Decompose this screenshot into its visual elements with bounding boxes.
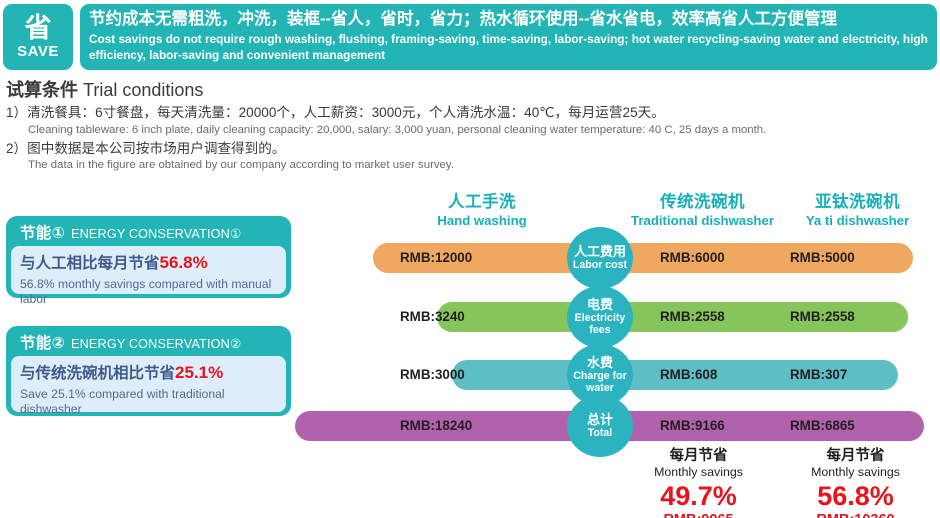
cost-value: RMB:608 xyxy=(660,360,717,390)
category-hub-label-en: Total xyxy=(588,428,613,439)
monthly-savings-label-en: Monthly savings xyxy=(778,465,933,480)
category-hub-label-cn: 人工费用 xyxy=(574,245,626,259)
monthly-savings-percent: 56.8% xyxy=(778,481,933,512)
monthly-savings-label-cn: 每月节省 xyxy=(621,448,776,465)
cost-value: RMB:5000 xyxy=(790,243,855,273)
monthly-savings-amount: RMB:10360 xyxy=(778,512,933,518)
monthly-savings-percent: 49.7% xyxy=(621,481,776,512)
cost-bar-row: RMB:3240RMB:2558RMB:2558 xyxy=(437,302,908,332)
cost-value: RMB:2558 xyxy=(790,302,855,332)
cost-value: RMB:18240 xyxy=(400,411,472,441)
category-hub-label-en: Labor cost xyxy=(573,260,627,271)
infographic-root: 省 SAVE 节约成本无需粗洗，冲洗，装框--省人，省时，省力；热水循环使用--… xyxy=(0,0,940,518)
category-hub-label-en: Electricity fees xyxy=(567,313,633,336)
category-hub-labor-cost: 人工费用Labor cost xyxy=(567,227,633,289)
monthly-savings-yati: 每月节省 Monthly savings 56.8% RMB:10360 xyxy=(778,448,933,518)
cost-value: RMB:3240 xyxy=(400,302,465,332)
cost-value: RMB:307 xyxy=(790,360,847,390)
monthly-savings-label-cn: 每月节省 xyxy=(778,448,933,465)
monthly-savings-amount: RMB:9065 xyxy=(621,512,776,518)
cost-value: RMB:3000 xyxy=(400,360,465,390)
category-hub-label-cn: 总计 xyxy=(587,413,613,427)
category-hub-label-en: Charge for water xyxy=(567,371,633,394)
cost-value: RMB:12000 xyxy=(400,243,472,273)
category-hub-electricity-fees: 电费Electricity fees xyxy=(567,286,633,348)
cost-value: RMB:2558 xyxy=(660,302,725,332)
monthly-savings-traditional: 每月节省 Monthly savings 49.7% RMB:9065 xyxy=(621,448,776,518)
cost-bar-row: RMB:3000RMB:608RMB:307 xyxy=(452,360,898,390)
cost-value: RMB:6865 xyxy=(790,411,855,441)
cost-bar-row: RMB:12000RMB:6000RMB:5000 xyxy=(373,243,913,273)
category-hub-label-cn: 电费 xyxy=(587,298,613,312)
category-hub-label-cn: 水费 xyxy=(587,356,613,370)
cost-value: RMB:9166 xyxy=(660,411,725,441)
monthly-savings-label-en: Monthly savings xyxy=(621,465,776,480)
cost-comparison-chart: RMB:12000RMB:6000RMB:5000人工费用Labor costR… xyxy=(0,0,940,518)
cost-value: RMB:6000 xyxy=(660,243,725,273)
